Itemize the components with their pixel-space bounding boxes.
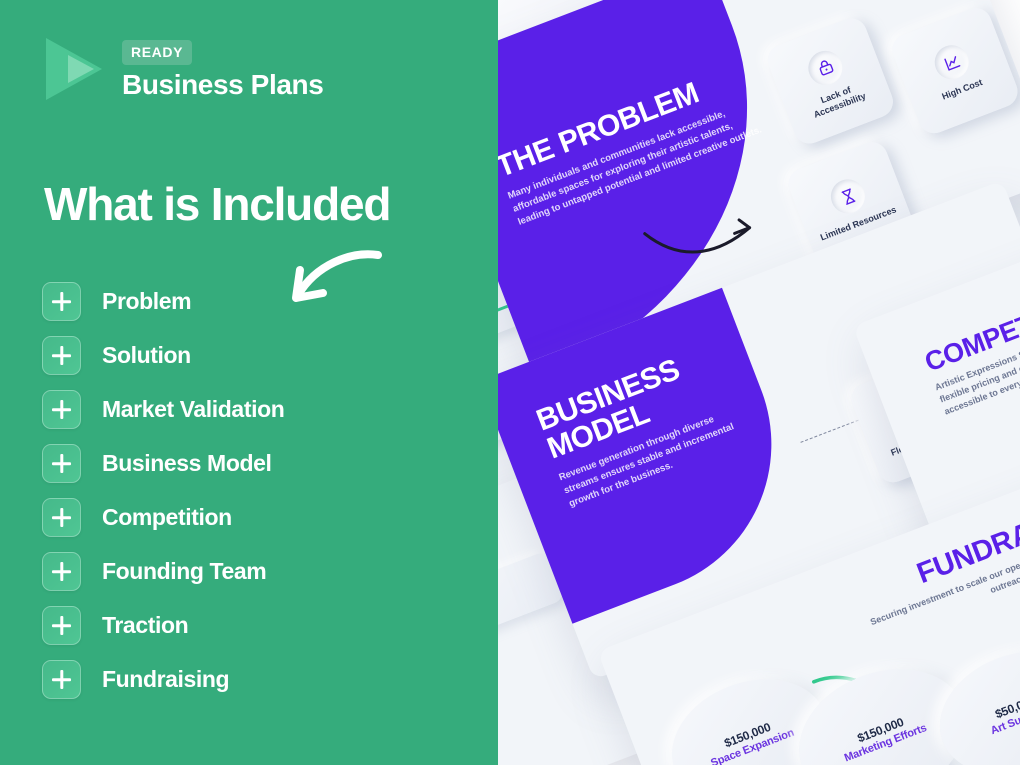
slide-preview-canvas: Drop-in Fees Education Workshops 500 Mon… <box>0 0 1020 765</box>
included-list-item-label: Market Validation <box>102 396 284 423</box>
business-model-dash-connector <box>800 420 858 443</box>
plus-icon[interactable] <box>42 336 81 375</box>
included-list-item-label: Founding Team <box>102 558 266 585</box>
included-list-item-label: Solution <box>102 342 191 369</box>
plus-icon[interactable] <box>42 606 81 645</box>
brand-title: Business Plans <box>122 70 323 99</box>
problem-card-label: Lack of Accessibility <box>794 75 882 126</box>
included-list: ProblemSolutionMarket ValidationBusiness… <box>42 282 284 699</box>
lock-icon <box>803 46 847 90</box>
included-list-item-label: Traction <box>102 612 188 639</box>
plus-icon[interactable] <box>42 498 81 537</box>
page-title: What is Included <box>44 180 390 228</box>
slide-collage-stage: Drop-in Fees Education Workshops 500 Mon… <box>498 0 1020 765</box>
included-list-item-label: Business Model <box>102 450 272 477</box>
plus-icon[interactable] <box>42 552 81 591</box>
included-list-item[interactable]: Fundraising <box>42 660 284 699</box>
included-list-item[interactable]: Founding Team <box>42 552 284 591</box>
chart-line-icon <box>930 40 974 84</box>
included-list-item[interactable]: Market Validation <box>42 390 284 429</box>
included-list-item[interactable]: Business Model <box>42 444 284 483</box>
included-list-item[interactable]: Problem <box>42 282 284 321</box>
included-list-item-label: Problem <box>102 288 191 315</box>
problem-card-highcost: High Cost <box>888 3 1020 137</box>
hourglass-icon <box>826 174 870 218</box>
plus-icon[interactable] <box>42 444 81 483</box>
ready-badge: READY <box>122 40 192 65</box>
plus-icon[interactable] <box>42 390 81 429</box>
included-list-item[interactable]: Competition <box>42 498 284 537</box>
plus-icon[interactable] <box>42 282 81 321</box>
included-list-item-label: Fundraising <box>102 666 229 693</box>
left-info-panel: READY Business Plans What is Included Pr… <box>0 0 498 765</box>
included-list-item[interactable]: Traction <box>42 606 284 645</box>
plus-icon[interactable] <box>42 660 81 699</box>
play-triangle-icon <box>46 38 108 100</box>
curved-arrow-down-left-icon <box>278 243 388 323</box>
included-list-item[interactable]: Solution <box>42 336 284 375</box>
included-list-item-label: Competition <box>102 504 232 531</box>
brand-lockup: READY Business Plans <box>46 36 323 100</box>
